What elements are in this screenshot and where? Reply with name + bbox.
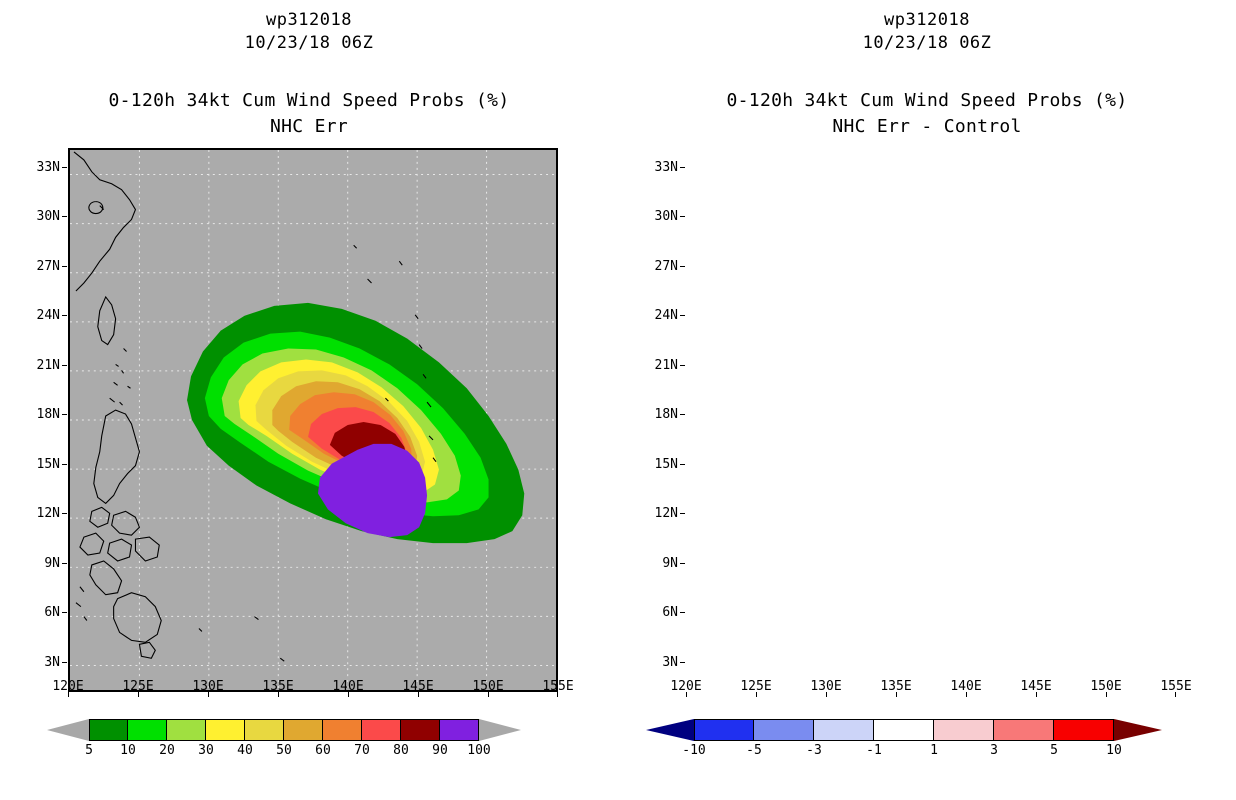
ylabel-21N: 21N (14, 358, 60, 373)
colorbar-segment-2 (167, 719, 206, 741)
colorbar-tick-label-6: 5 (1034, 743, 1074, 758)
colorbar-tick-label-7: 10 (1094, 743, 1134, 758)
colorbar-segment-2 (814, 719, 874, 741)
colorbar-segment-0 (694, 719, 754, 741)
xlabel-r-155E: 155E (1150, 679, 1202, 694)
left-chart-title: 0-120h 34kt Cum Wind Speed Probs (%) (0, 90, 618, 111)
colorbar-right-low-arrow (646, 719, 694, 741)
colorbar-segment-8 (401, 719, 440, 741)
colorbar-tick-label-7: 70 (342, 743, 382, 758)
coastlines-left (70, 150, 556, 690)
colorbar-segment-5 (994, 719, 1054, 741)
ylabel-r-33N: 33N (632, 160, 678, 175)
colorbar-tick-label-0: 5 (69, 743, 109, 758)
colorbar-tick-label-1: -5 (734, 743, 774, 758)
colorbar-tick-label-2: 20 (147, 743, 187, 758)
colorbar-segment-3 (206, 719, 245, 741)
ylabel-r-24N: 24N (632, 308, 678, 323)
colorbar-segment-1 (754, 719, 814, 741)
colorbar-left-high-arrow (479, 719, 521, 741)
panel-nhc-err-control: wp312018 10/23/18 06Z 0-120h 34kt Cum Wi… (618, 0, 1236, 800)
colorbar-left-low-arrow (47, 719, 89, 741)
right-chart-title: 0-120h 34kt Cum Wind Speed Probs (%) (618, 90, 1236, 111)
ylabel-r-18N: 18N (632, 407, 678, 422)
colorbar-segment-4 (245, 719, 284, 741)
ylabel-9N: 9N (14, 556, 60, 571)
colorbar-right-segments[interactable] (694, 719, 1114, 741)
colorbar-segment-5 (284, 719, 323, 741)
ylabel-r-6N: 6N (632, 605, 678, 620)
colorbar-tick-label-9: 90 (420, 743, 460, 758)
colorbar-segment-7 (362, 719, 401, 741)
colorbar-tick-label-4: 1 (914, 743, 954, 758)
map-plot-nhc-err[interactable] (68, 148, 558, 692)
ylabel-r-15N: 15N (632, 457, 678, 472)
colorbar-tick-label-2: -3 (794, 743, 834, 758)
left-datetime: 10/23/18 06Z (0, 33, 618, 53)
right-storm-id: wp312018 (618, 10, 1236, 30)
colorbar-segment-4 (934, 719, 994, 741)
xlabel-155E: 155E (532, 679, 584, 694)
colorbar-left-labels: 5102030405060708090100 (89, 743, 479, 761)
left-storm-id: wp312018 (0, 10, 618, 30)
ylabel-r-12N: 12N (632, 506, 678, 521)
colorbar-segment-1 (128, 719, 167, 741)
colorbar-tick-label-3: 30 (186, 743, 226, 758)
right-chart-subtitle: NHC Err - Control (618, 116, 1236, 137)
colorbar-tick-label-5: 50 (264, 743, 304, 758)
ylabel-6N: 6N (14, 605, 60, 620)
ylabel-3N: 3N (14, 655, 60, 670)
colorbar-tick-label-5: 3 (974, 743, 1014, 758)
colorbar-segment-6 (323, 719, 362, 741)
colorbar-right-high-arrow (1114, 719, 1162, 741)
ylabel-15N: 15N (14, 457, 60, 472)
ylabel-33N: 33N (14, 160, 60, 175)
ylabel-12N: 12N (14, 506, 60, 521)
ylabel-27N: 27N (14, 259, 60, 274)
colorbar-segment-9 (440, 719, 479, 741)
ylabel-18N: 18N (14, 407, 60, 422)
ylabel-r-21N: 21N (632, 358, 678, 373)
colorbar-tick-label-6: 60 (303, 743, 343, 758)
ylabel-r-27N: 27N (632, 259, 678, 274)
colorbar-tick-label-0: -10 (674, 743, 714, 758)
colorbar-segment-3 (874, 719, 934, 741)
ylabel-r-3N: 3N (632, 655, 678, 670)
colorbar-tick-label-3: -1 (854, 743, 894, 758)
right-datetime: 10/23/18 06Z (618, 33, 1236, 53)
colorbar-segment-0 (89, 719, 128, 741)
colorbar-tick-label-1: 10 (108, 743, 148, 758)
colorbar-tick-label-8: 80 (381, 743, 421, 758)
colorbar-segment-6 (1054, 719, 1114, 741)
panel-nhc-err: wp312018 10/23/18 06Z 0-120h 34kt Cum Wi… (0, 0, 618, 800)
colorbar-right-labels: -10-5-3-113510 (694, 743, 1114, 761)
ylabel-r-9N: 9N (632, 556, 678, 571)
colorbar-tick-label-10: 100 (459, 743, 499, 758)
ylabel-30N: 30N (14, 209, 60, 224)
ylabel-24N: 24N (14, 308, 60, 323)
left-chart-subtitle: NHC Err (0, 116, 618, 137)
colorbar-tick-label-4: 40 (225, 743, 265, 758)
ylabel-r-30N: 30N (632, 209, 678, 224)
colorbar-left-segments[interactable] (89, 719, 479, 741)
